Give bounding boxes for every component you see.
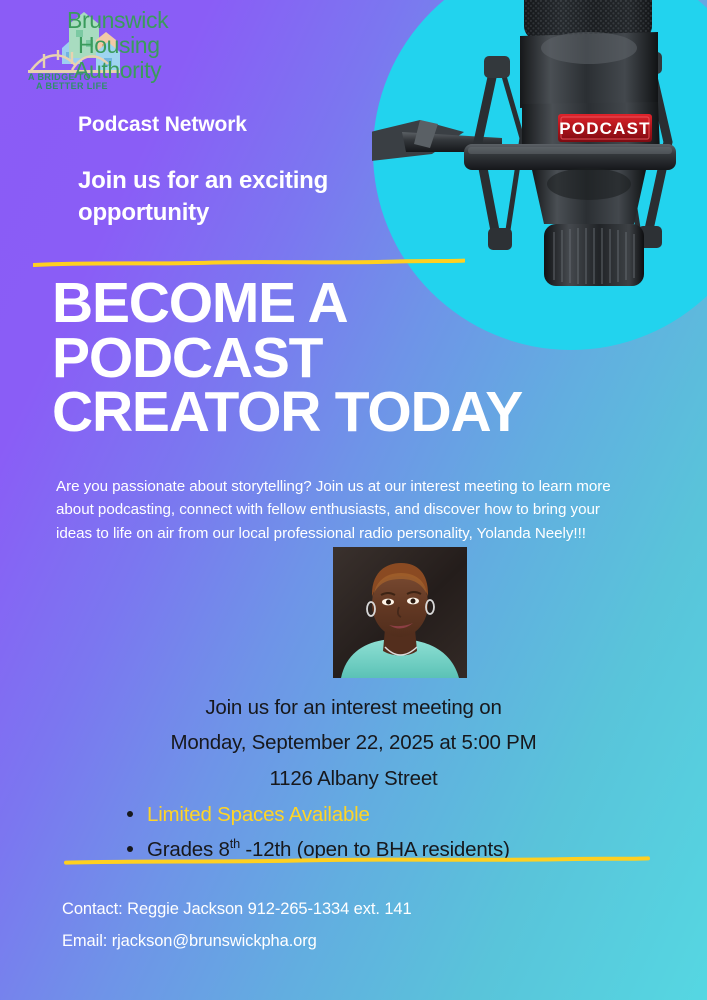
event-line-address: 1126 Albany Street <box>0 761 707 796</box>
mount-clamp-left <box>484 56 510 78</box>
mount-clamp-bottom-left <box>488 228 512 250</box>
subheading: Join us for an exciting opportunity <box>78 165 378 229</box>
podcast-microphone-image: PODCAST <box>372 0 707 292</box>
bullet-limited-spaces: Limited Spaces Available <box>124 797 510 832</box>
speaker-headshot <box>333 547 467 678</box>
contact-phone-line: Contact: Reggie Jackson 912-265-1334 ext… <box>62 893 412 925</box>
headline-line-2: Podcast <box>52 331 652 386</box>
divider-rule-bottom <box>64 856 650 868</box>
kicker-podcast-network: Podcast Network <box>78 113 247 137</box>
event-details: Join us for an interest meeting on Monda… <box>0 690 707 796</box>
brunswick-housing-authority-logo: A BRIDGE TO A BETTER LIFE Brunswick Hous… <box>14 6 226 92</box>
page-title: Become a Podcast Creator Today <box>52 276 652 440</box>
contact-info: Contact: Reggie Jackson 912-265-1334 ext… <box>62 893 412 957</box>
event-line-datetime: Monday, September 22, 2025 at 5:00 PM <box>0 725 707 760</box>
bullet-grades-sup: th <box>230 836 240 851</box>
mic-badge-text: PODCAST <box>559 119 651 138</box>
event-line-intro: Join us for an interest meeting on <box>0 690 707 725</box>
poster-flyer: PODCAST <box>0 0 707 1000</box>
body-paragraph: Are you passionate about storytelling? J… <box>56 475 614 545</box>
logo-wordmark-line3: Authority <box>74 57 162 83</box>
logo-wordmark-line2: Housing <box>78 32 160 58</box>
headline-line-3: Creator Today <box>52 385 652 440</box>
headline-line-1: Become a <box>52 276 652 331</box>
contact-email-line: Email: rjackson@brunswickpha.org <box>62 925 412 957</box>
logo-wordmark-line1: Brunswick <box>67 7 169 33</box>
divider-rule-top <box>33 258 465 270</box>
